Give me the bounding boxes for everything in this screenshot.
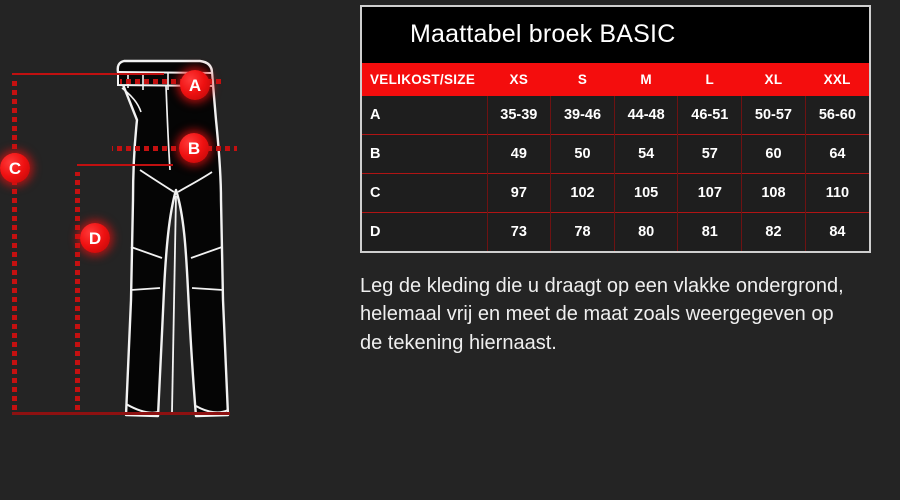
column-header-s: S [551,63,615,96]
cell-a-l: 46-51 [678,96,742,135]
column-header-size-label: VELIKOST/SIZE [362,63,487,96]
info-panel: Maattabel broek BASIC VELIKOST/SIZE XS S… [355,0,900,500]
cell-c-s: 102 [551,174,615,213]
column-header-m: M [614,63,678,96]
guide-leader-c-top [12,73,164,75]
cell-a-m: 44-48 [614,96,678,135]
diagram-panel: A B C D [0,0,350,500]
column-header-l: L [678,63,742,96]
cell-b-xl: 60 [742,135,806,174]
measurement-instructions: Leg de kleding die u draagt op een vlakk… [360,272,860,357]
cell-b-xs: 49 [487,135,551,174]
row-label-b: B [362,135,487,174]
cell-c-xxl: 110 [805,174,869,213]
measurement-marker-a: A [180,70,210,100]
cell-c-xs: 97 [487,174,551,213]
column-header-xl: XL [742,63,806,96]
row-label-c: C [362,174,487,213]
guide-line-b [112,146,237,151]
cell-d-xs: 73 [487,213,551,252]
cell-b-l: 57 [678,135,742,174]
cell-a-xs: 35-39 [487,96,551,135]
cell-a-xl: 50-57 [742,96,806,135]
row-label-a: A [362,96,487,135]
measurement-marker-d: D [80,223,110,253]
cell-d-m: 80 [614,213,678,252]
size-table-title: Maattabel broek BASIC [362,7,869,63]
measurement-marker-b: B [179,133,209,163]
cell-d-xxl: 84 [805,213,869,252]
table-row: B 49 50 54 57 60 64 [362,135,869,174]
guide-baseline [12,412,230,415]
table-row: D 73 78 80 81 82 84 [362,213,869,252]
guide-line-d [75,172,80,410]
cell-a-xxl: 56-60 [805,96,869,135]
guide-line-c [12,80,17,410]
cell-d-s: 78 [551,213,615,252]
cell-b-xxl: 64 [805,135,869,174]
cell-d-xl: 82 [742,213,806,252]
cell-d-l: 81 [678,213,742,252]
guide-leader-d-top [77,164,173,166]
size-table-frame: Maattabel broek BASIC VELIKOST/SIZE XS S… [360,5,871,253]
cell-b-m: 54 [614,135,678,174]
size-table-header-row: VELIKOST/SIZE XS S M L XL XXL [362,63,869,96]
measurement-marker-c: C [0,153,30,183]
trousers-illustration [0,0,350,500]
cell-a-s: 39-46 [551,96,615,135]
row-label-d: D [362,213,487,252]
cell-c-xl: 108 [742,174,806,213]
size-table: VELIKOST/SIZE XS S M L XL XXL A 35-39 39… [362,63,869,251]
trousers-shape [118,61,228,416]
cell-c-l: 107 [678,174,742,213]
table-row: C 97 102 105 107 108 110 [362,174,869,213]
column-header-xs: XS [487,63,551,96]
cell-c-m: 105 [614,174,678,213]
column-header-xxl: XXL [805,63,869,96]
table-row: A 35-39 39-46 44-48 46-51 50-57 56-60 [362,96,869,135]
cell-b-s: 50 [551,135,615,174]
